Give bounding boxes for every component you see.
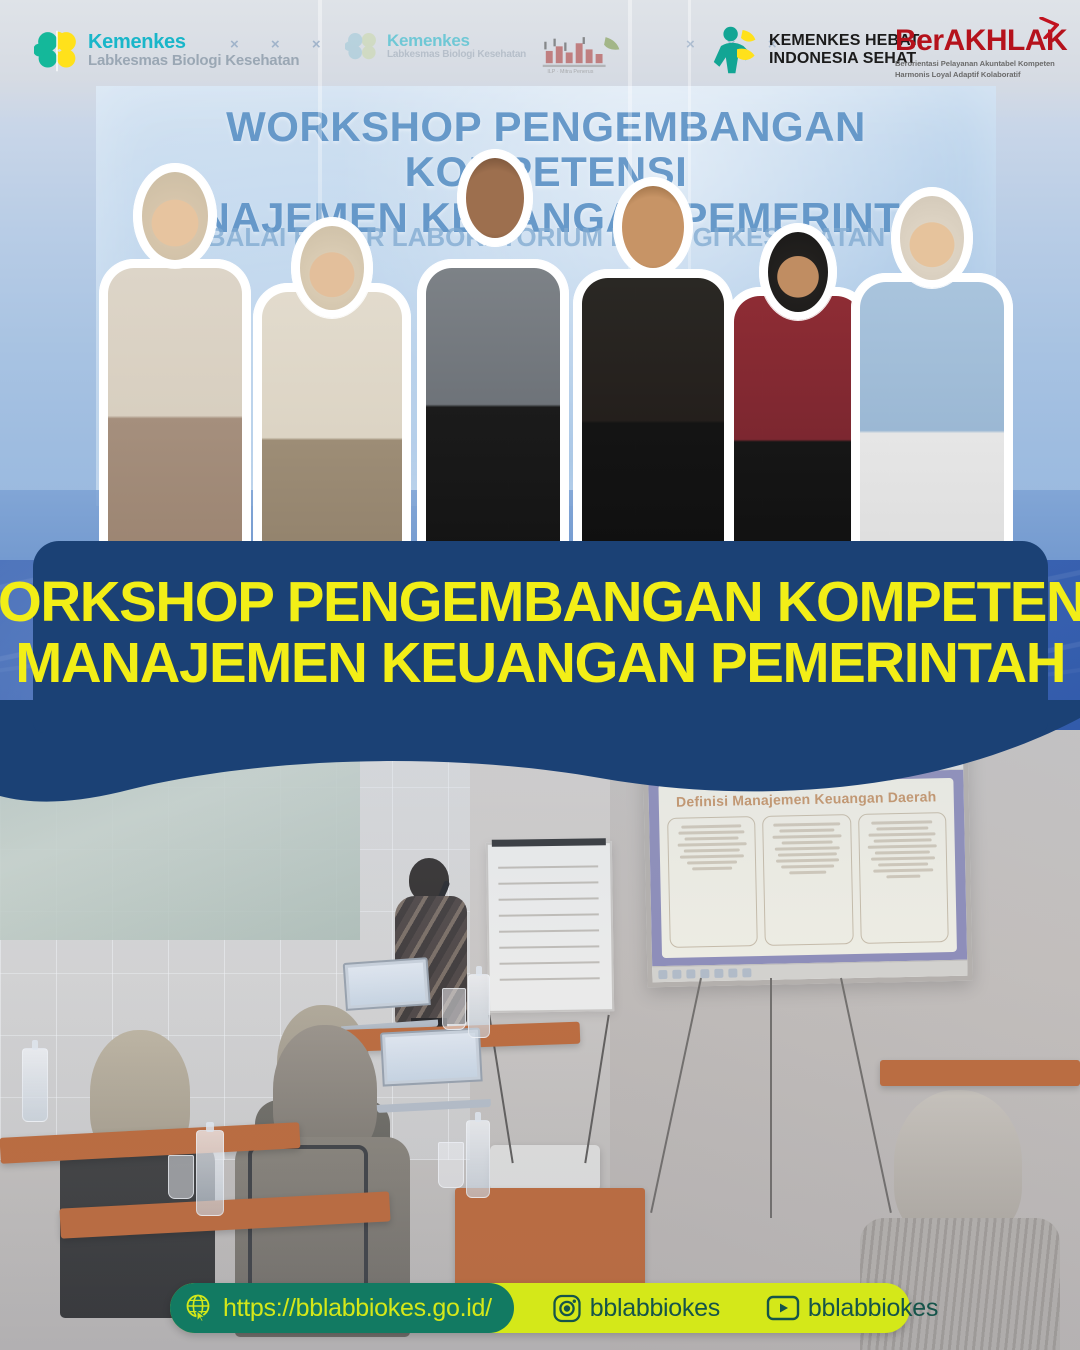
person-head <box>292 218 372 318</box>
instagram-icon <box>552 1293 582 1323</box>
youtube-link[interactable]: bblabbiokes <box>766 1294 938 1323</box>
berakhlak-values-line-2: Harmonis Loyal Adaptif Kolaboratif <box>895 70 1055 81</box>
social-footer-bar: https://bblabbiokes.go.id/ bblabbiokes b… <box>170 1283 910 1333</box>
person-torso <box>418 260 568 560</box>
globe-icon <box>184 1293 214 1323</box>
hebat-figure-icon <box>713 25 761 75</box>
berakhlak-swoosh-icon <box>1039 17 1059 39</box>
title-line-1: WORKSHOP PENGEMBANGAN KOMPETENSI <box>0 572 1080 633</box>
instagram-handle: bblabbiokes <box>590 1294 720 1323</box>
website-url: https://bblabbiokes.go.id/ <box>223 1294 492 1323</box>
person-head <box>458 150 532 246</box>
logo-divider-dots: × × × <box>230 36 335 53</box>
person-5 <box>726 192 870 560</box>
person-torso <box>254 284 410 560</box>
person-head <box>892 188 972 288</box>
person-torso <box>852 274 1012 560</box>
website-pill[interactable]: https://bblabbiokes.go.id/ <box>170 1283 514 1333</box>
kemenkes-unit-name: Labkesmas Biologi Kesehatan <box>387 49 526 62</box>
berakhlak-values: Berorientasi Pelayanan Akuntabel Kompete… <box>895 59 1055 81</box>
group-photo: WORKSHOP PENGEMBANGAN KOMPETENSI MANAJEM… <box>0 0 1080 560</box>
photo-color-overlay <box>0 730 1080 1350</box>
person-torso <box>726 288 870 560</box>
kemenkes-hebat-logo: KEMENKES HEBAT INDONESIA SEHAT <box>713 25 919 75</box>
berakhlak-values-line-1: Berorientasi Pelayanan Akuntabel Kompete… <box>895 59 1055 70</box>
berakhlak-logo: BerAKHLAK Berorientasi Pelayanan Akuntab… <box>895 26 1055 81</box>
people-cutouts <box>0 150 1080 560</box>
kemenkes-logo-text: Kemenkes Labkesmas Biologi Kesehatan <box>387 32 526 62</box>
person-2 <box>254 188 410 560</box>
kemenkes-unit-name: Labkesmas Biologi Kesehatan <box>88 52 299 71</box>
header-logo-row: Kemenkes Labkesmas Biologi Kesehatan × ×… <box>0 0 1080 100</box>
person-torso <box>574 270 732 560</box>
person-6 <box>852 174 1012 560</box>
poster-canvas: WORKSHOP PENGEMBANGAN KOMPETENSI MANAJEM… <box>0 0 1080 1350</box>
person-head <box>134 164 216 268</box>
title-line-2: MANAJEMEN KEUANGAN PEMERINTAH <box>16 633 1066 694</box>
svg-text:ILP · Mitra Penerus: ILP · Mitra Penerus <box>547 69 593 75</box>
berakhlak-word-ber: Ber <box>895 24 944 57</box>
youtube-icon <box>766 1294 800 1322</box>
ilp-logo-icon: ILP · Mitra Penerus <box>532 32 624 76</box>
title-banner: WORKSHOP PENGEMBANGAN KOMPETENSI MANAJEM… <box>33 541 1048 733</box>
person-1 <box>100 160 250 560</box>
youtube-handle: bblabbiokes <box>808 1294 938 1323</box>
kemenkes-name: Kemenkes <box>387 32 526 49</box>
kemenkes-mark-icon <box>34 28 80 74</box>
kemenkes-logo-secondary: Kemenkes Labkesmas Biologi Kesehatan <box>345 30 526 64</box>
person-torso <box>100 260 250 560</box>
person-3 <box>418 150 568 560</box>
person-head <box>614 178 692 276</box>
kemenkes-mark-icon <box>345 30 379 64</box>
person-4 <box>574 164 732 560</box>
berakhlak-wordmark: BerAKHLAK <box>895 26 1055 56</box>
training-room-photo: Definisi Manajemen Keuangan Daerah <box>0 730 1080 1350</box>
person-head <box>760 224 836 320</box>
instagram-link[interactable]: bblabbiokes <box>552 1293 720 1323</box>
